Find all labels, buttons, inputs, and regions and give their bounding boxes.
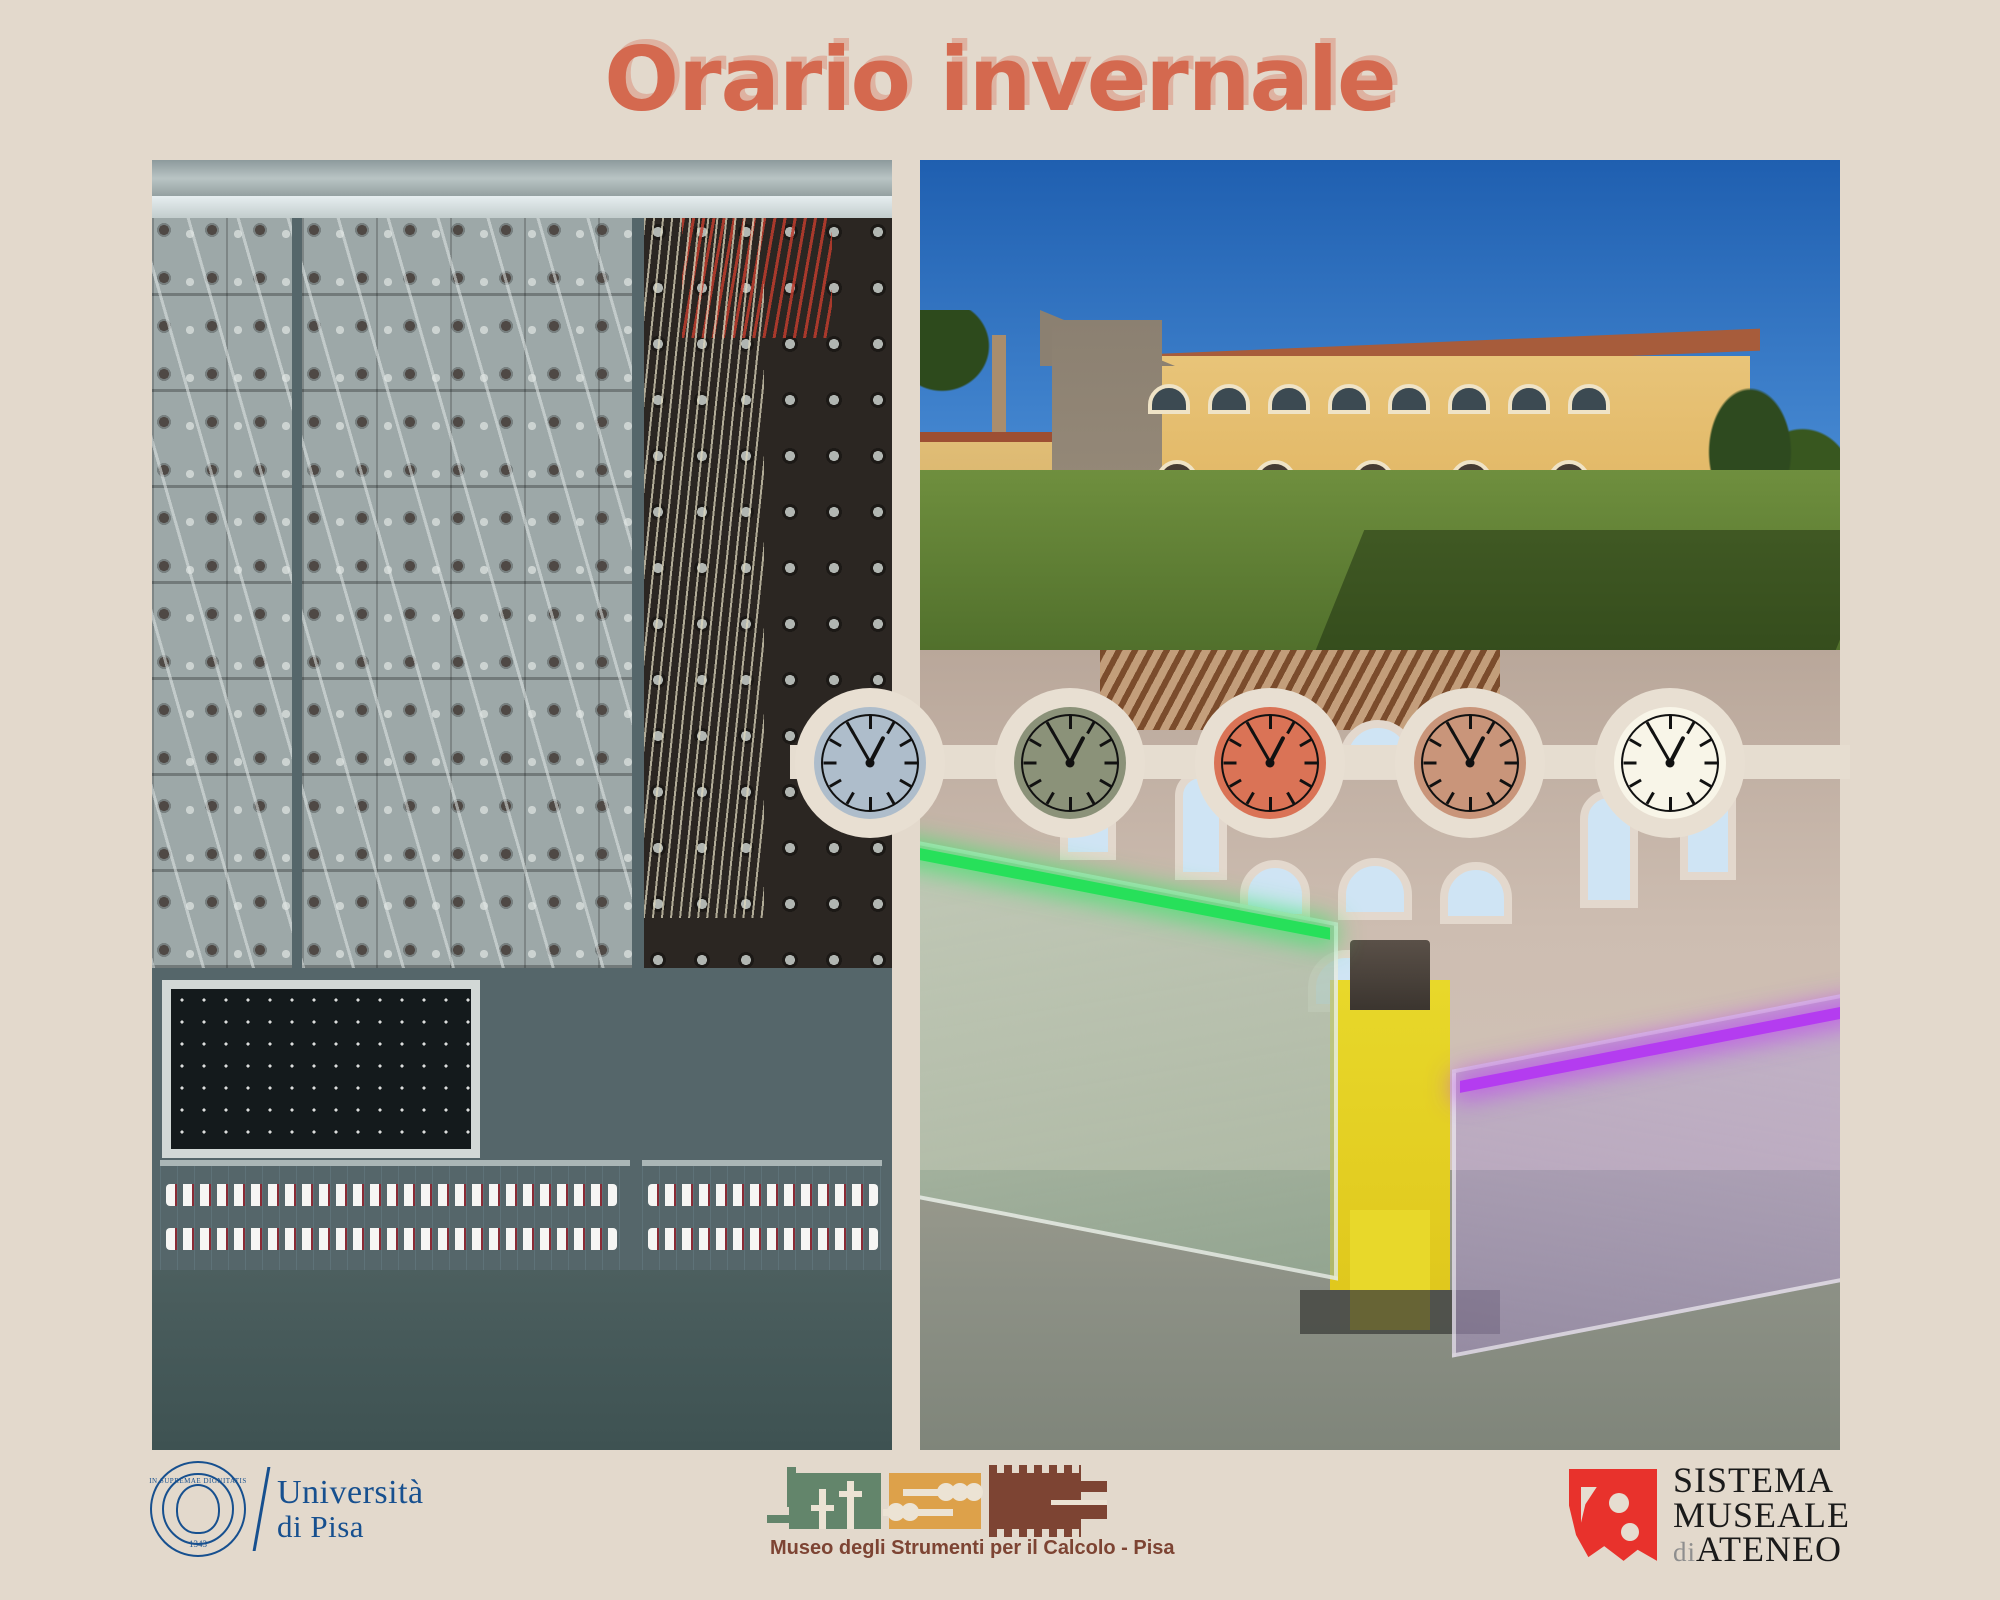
museo-marks	[770, 1467, 1100, 1529]
clock-3-center-pin	[1266, 759, 1275, 768]
clock-1-center-pin	[866, 759, 875, 768]
clock-4	[1395, 688, 1545, 838]
cep-switch-row-2	[166, 1228, 617, 1250]
clock-2-dial	[1014, 707, 1126, 819]
clock-3-tick	[1269, 797, 1272, 810]
punch-card-icon	[989, 1473, 1081, 1529]
sistema-museale-logo[interactable]: SISTEMA MUSEALE diATENEO	[1569, 1463, 1850, 1567]
clock-2-tick	[1069, 716, 1072, 729]
cep-operator-console-right	[642, 1160, 882, 1279]
abacus-icon	[889, 1473, 981, 1529]
cep-bars-left	[152, 218, 292, 968]
clock-5-tick	[1704, 762, 1717, 765]
clock-1-tick	[869, 797, 872, 810]
lawn-shadow	[1316, 530, 1840, 650]
cep-relay-bay-left	[152, 218, 292, 968]
clerestory-window	[1440, 862, 1512, 924]
clock-1-tick	[904, 762, 917, 765]
sma-line1: SISTEMA	[1673, 1463, 1850, 1498]
seal-year: 1343	[189, 1539, 207, 1549]
page-title: Orario invernale	[604, 28, 1395, 131]
clock-3-dial	[1214, 707, 1326, 819]
university-line2: di Pisa	[277, 1511, 424, 1544]
arched-window	[1148, 384, 1190, 414]
museum-building-photo	[920, 160, 1840, 650]
cep-floor	[152, 1270, 892, 1450]
clock-4-tick	[1504, 762, 1517, 765]
clock-4-tick	[1469, 716, 1472, 729]
clock-2	[995, 688, 1145, 838]
cep-top-rail-light	[152, 196, 892, 218]
cep-switch-row-4	[648, 1228, 878, 1250]
clock-5-tick	[1669, 716, 1672, 729]
university-name: Università di Pisa	[277, 1475, 424, 1544]
clock-4-center-pin	[1466, 759, 1475, 768]
museo-calcolo-logo[interactable]: Museo degli Strumenti per il Calcolo - P…	[770, 1467, 1100, 1560]
poster-root: Orario invernale	[0, 0, 2000, 1600]
clock-3	[1195, 688, 1345, 838]
arched-window	[1388, 384, 1430, 414]
sma-line3-small: di	[1673, 1537, 1696, 1567]
clock-5-tick	[1623, 762, 1636, 765]
footer-logos: IN SUPREMAE DIGNITATIS 1343 Università d…	[0, 1455, 2000, 1585]
arched-window-row	[1148, 368, 1748, 414]
clock-2-center-pin	[1066, 759, 1075, 768]
cep-bars-center	[302, 218, 632, 968]
clock-1	[795, 688, 945, 838]
clock-2-tick	[1104, 762, 1117, 765]
arched-window	[1328, 384, 1370, 414]
sma-line3-main: ATENEO	[1696, 1529, 1842, 1569]
clock-1-dial	[814, 707, 926, 819]
clock-4-dial	[1414, 707, 1526, 819]
clock-3-tick	[1269, 716, 1272, 729]
cep-operator-console-left	[160, 1160, 630, 1279]
cep-cable-bundle	[644, 218, 764, 918]
slide-rule-icon	[789, 1473, 881, 1529]
arched-window	[1448, 384, 1490, 414]
sistema-museale-mark-icon	[1569, 1469, 1657, 1561]
clock-1-tick	[823, 762, 836, 765]
arched-window	[1568, 384, 1610, 414]
logo-divider	[253, 1467, 271, 1551]
clock-5-center-pin	[1666, 759, 1675, 768]
clock-4-tick	[1423, 762, 1436, 765]
seal-motto: IN SUPREMAE DIGNITATIS	[149, 1477, 247, 1485]
cep-switch-row-1	[166, 1184, 617, 1206]
arched-window	[1208, 384, 1250, 414]
clock-1-tick	[869, 716, 872, 729]
title-area: Orario invernale	[0, 28, 2000, 131]
cep-relay-bay-center	[302, 218, 632, 968]
arched-window	[1508, 384, 1550, 414]
clock-3-tick	[1304, 762, 1317, 765]
tree-left	[920, 310, 1030, 430]
cep-lamp-panel	[162, 980, 480, 1158]
clock-2-tick	[1069, 797, 1072, 810]
clock-4-tick	[1469, 797, 1472, 810]
sma-line3: diATENEO	[1673, 1532, 1850, 1567]
university-of-pisa-logo[interactable]: IN SUPREMAE DIGNITATIS 1343 Università d…	[150, 1461, 424, 1557]
museo-caption: Museo degli Strumenti per il Calcolo - P…	[770, 1537, 1100, 1560]
clock-2-tick	[1023, 762, 1036, 765]
vintage-calculating-machine	[1350, 940, 1430, 1010]
clock-3-tick	[1223, 762, 1236, 765]
cep-switch-row-3	[648, 1184, 878, 1206]
arched-window	[1268, 384, 1310, 414]
cep-computer-photo	[152, 160, 892, 1450]
sma-line2: MUSEALE	[1673, 1498, 1850, 1533]
sistema-museale-wordmark: SISTEMA MUSEALE diATENEO	[1673, 1463, 1850, 1567]
university-line1: Università	[277, 1475, 424, 1511]
pisa-seal-icon: IN SUPREMAE DIGNITATIS 1343	[150, 1461, 246, 1557]
clock-5-dial	[1614, 707, 1726, 819]
clock-5-tick	[1669, 797, 1672, 810]
seal-face-icon	[176, 1484, 220, 1534]
clock-5	[1595, 688, 1745, 838]
